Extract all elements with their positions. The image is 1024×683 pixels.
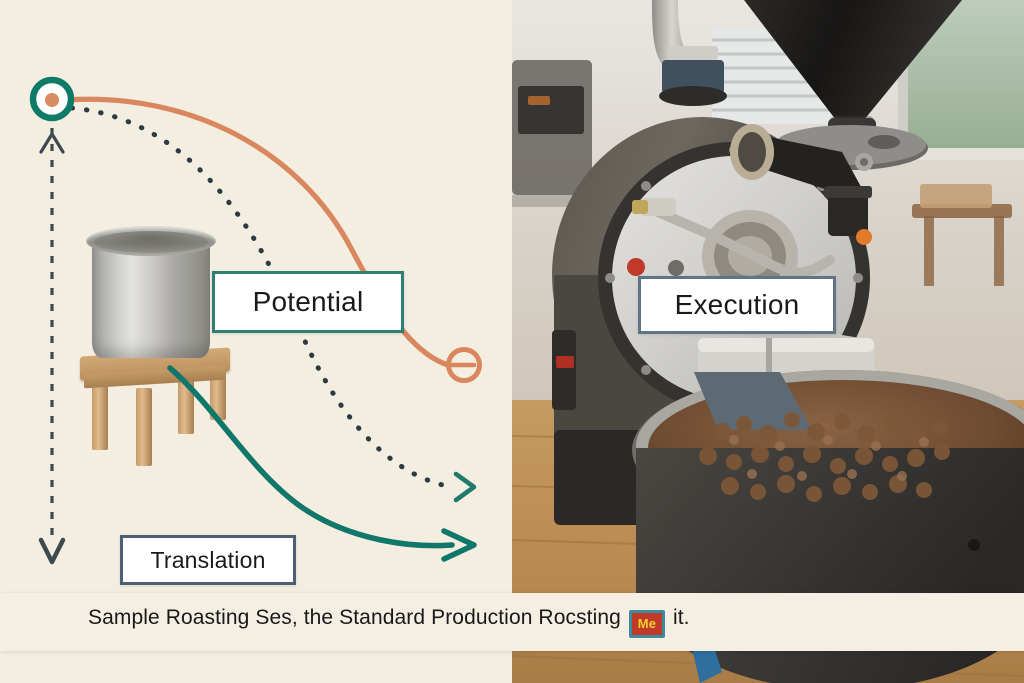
label-potential[interactable]: Potential bbox=[212, 271, 404, 333]
start-node-marker bbox=[33, 80, 71, 118]
left-diagram-panel: Potential Translation bbox=[0, 0, 512, 683]
right-photo-panel bbox=[512, 0, 1024, 683]
coffee-roaster-photo bbox=[512, 0, 1024, 683]
caption-line: Sample Roasting Ses, the Standard Produc… bbox=[88, 606, 690, 638]
orange-indicator bbox=[856, 229, 872, 245]
vertical-axis-dashed-line bbox=[41, 128, 63, 562]
label-translation[interactable]: Translation bbox=[120, 535, 296, 585]
label-execution-text: Execution bbox=[675, 289, 800, 321]
label-potential-text: Potential bbox=[253, 286, 364, 318]
label-translation-text: Translation bbox=[150, 547, 265, 574]
slide-canvas: Potential Translation bbox=[0, 0, 1024, 683]
translation-arrow bbox=[170, 368, 474, 559]
caption-band: Sample Roasting Ses, the Standard Produc… bbox=[0, 593, 1024, 651]
caption-text-after-badge: it. bbox=[673, 606, 690, 629]
red-indicator bbox=[627, 258, 645, 276]
label-execution[interactable]: Execution bbox=[638, 276, 836, 334]
me-badge[interactable]: Me bbox=[629, 610, 665, 638]
potential-curve bbox=[66, 99, 480, 380]
caption-text-before-badge: Sample Roasting Ses, the Standard Produc… bbox=[88, 606, 621, 629]
